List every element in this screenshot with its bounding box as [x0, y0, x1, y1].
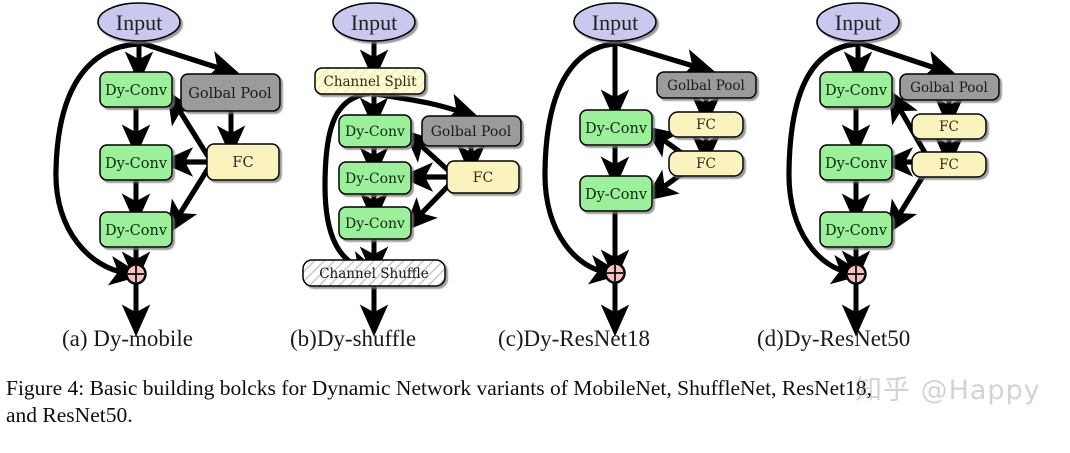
- panel-caption-a: (a) Dy-mobile: [62, 326, 193, 352]
- figure-caption-line2: and ResNet50.: [6, 402, 1064, 429]
- node-channel-split-b-label: Channel Split: [323, 74, 417, 90]
- node-add-c[interactable]: [606, 264, 625, 283]
- node-dy-conv-1-d-label: Dy-Conv: [825, 83, 888, 99]
- panel-caption-d: (d)Dy-ResNet50: [757, 326, 910, 352]
- panel-caption-b: (b)Dy-shuffle: [290, 326, 416, 352]
- node-input-a-label: Input: [116, 10, 162, 35]
- node-golbal-pool-b-label: Golbal Pool: [431, 124, 512, 140]
- node-dy-conv-1-a-label: Dy-Conv: [105, 83, 168, 99]
- node-fc-2-c-label: FC: [696, 156, 716, 172]
- node-input-d-label: Input: [835, 10, 881, 35]
- node-dy-conv-3-b-label: Dy-Conv: [345, 216, 405, 232]
- node-add-d[interactable]: [847, 265, 866, 284]
- node-dy-conv-2-a-label: Dy-Conv: [105, 156, 168, 172]
- node-dy-conv-2-d-label: Dy-Conv: [825, 156, 888, 172]
- node-golbal-pool-a-label: Golbal Pool: [188, 86, 272, 102]
- node-channel-shuffle-b-label: Channel Shuffle: [319, 266, 429, 282]
- node-golbal-pool-c-label: Golbal Pool: [667, 78, 745, 94]
- node-input-b-label: Input: [351, 10, 397, 35]
- node-fc-1-b-label: FC: [473, 170, 493, 186]
- node-golbal-pool-d-label: Golbal Pool: [910, 80, 988, 96]
- node-dy-conv-3-a-label: Dy-Conv: [105, 223, 168, 239]
- node-fc-1-c-label: FC: [696, 117, 716, 133]
- node-dy-conv-2-b-label: Dy-Conv: [345, 171, 405, 187]
- node-dy-conv-1-b-label: Dy-Conv: [345, 124, 405, 140]
- node-dy-conv-2-c-label: Dy-Conv: [585, 187, 648, 203]
- node-dy-conv-3-d-label: Dy-Conv: [825, 223, 888, 239]
- node-input-c-label: Input: [592, 10, 638, 35]
- node-fc-2-d-label: FC: [939, 157, 959, 173]
- figure-caption-line1: Figure 4: Basic building bolcks for Dyna…: [6, 376, 872, 400]
- panel-caption-c: (c)Dy-ResNet18: [498, 326, 650, 352]
- figure-caption: Figure 4: Basic building bolcks for Dyna…: [6, 375, 1064, 429]
- node-fc-1-a-label: FC: [232, 155, 253, 171]
- node-dy-conv-1-c-label: Dy-Conv: [585, 121, 648, 137]
- node-add-a[interactable]: [127, 265, 146, 284]
- node-fc-1-d-label: FC: [939, 119, 959, 135]
